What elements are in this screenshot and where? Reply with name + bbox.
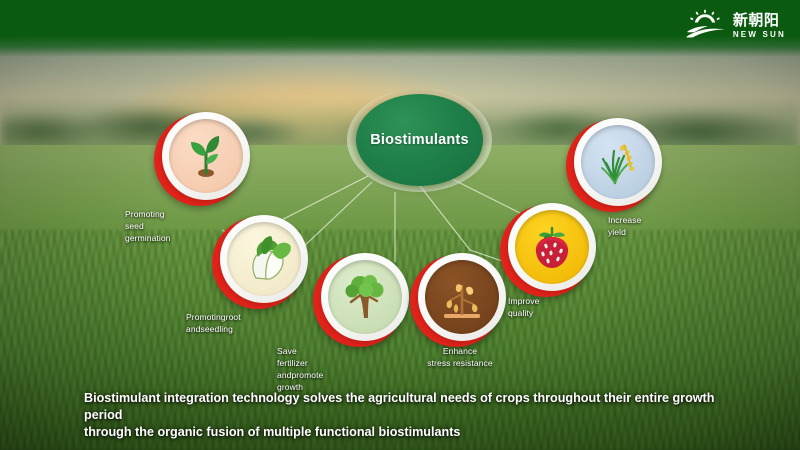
brand-name-cn: 新朝阳: [733, 13, 786, 28]
node-label: Promotingroot andseedling: [186, 311, 241, 335]
node-label: Save fertilizer andpromote growth: [277, 345, 323, 393]
node-badge: [570, 118, 662, 210]
tree-icon: [328, 260, 402, 334]
background-vignette: [0, 0, 800, 450]
node-label: Enhance stress resistance: [418, 345, 502, 369]
node-label: Improve quality: [508, 295, 539, 319]
caption-line-1: Biostimulant integration technology solv…: [84, 390, 744, 424]
brand-name-en: NEW SUN: [733, 31, 786, 39]
header-band: 新朝阳 NEW SUN: [0, 0, 800, 57]
wilting-plant-icon: [425, 260, 499, 334]
center-node-label: Biostimulants: [370, 132, 468, 148]
brand-text: 新朝阳 NEW SUN: [733, 13, 786, 39]
seedling-icon: [169, 119, 243, 193]
node-badge: [504, 203, 596, 295]
slide-canvas: 新朝阳 NEW SUN Biostimulants: [0, 0, 800, 450]
node-label: Increase yield: [608, 214, 641, 238]
center-node-disc: Biostimulants: [356, 94, 483, 186]
center-node[interactable]: Biostimulants: [347, 88, 492, 192]
node-badge: [216, 215, 308, 307]
strawberry-icon: [515, 210, 589, 284]
node-badge: [414, 253, 506, 345]
caption-line-2: through the organic fusion of multiple f…: [84, 424, 744, 441]
brand-logo: 新朝阳 NEW SUN: [685, 9, 786, 43]
node-label: Promoting seed germination: [125, 208, 171, 244]
bok-choy-icon: [227, 222, 301, 296]
sunrise-over-field-logo-icon: [685, 9, 725, 43]
caption: Biostimulant integration technology solv…: [84, 390, 744, 441]
rice-grain-icon: [581, 125, 655, 199]
node-badge: [317, 253, 409, 345]
node-badge: [158, 112, 250, 204]
